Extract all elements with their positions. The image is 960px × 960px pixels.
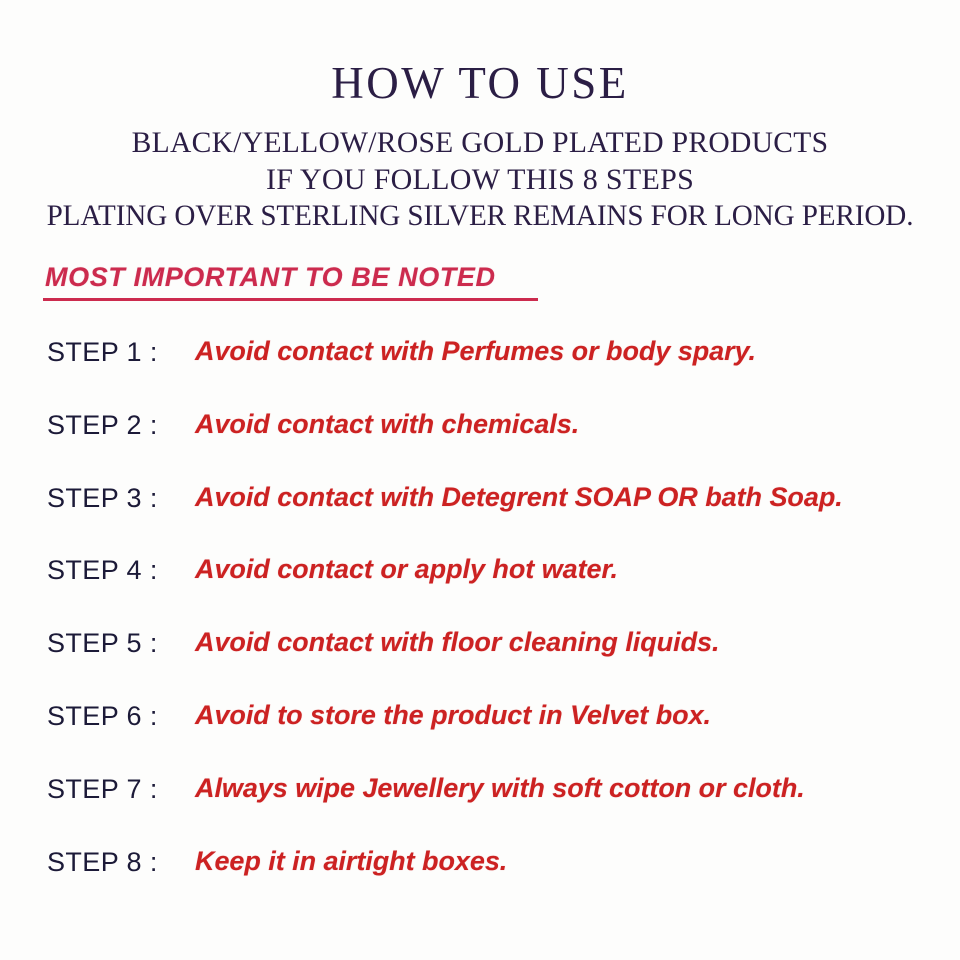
step-label: STEP 8 : (47, 847, 158, 878)
subtitle-line-3: PLATING OVER STERLING SILVER REMAINS FOR… (14, 198, 945, 235)
step-text: Avoid contact with Perfumes or body spar… (195, 336, 756, 367)
step-text: Avoid contact with chemicals. (195, 409, 579, 440)
step-text: Avoid contact with floor cleaning liquid… (195, 627, 719, 658)
step-row: STEP 7 : Always wipe Jewellery with soft… (0, 774, 960, 847)
subtitle-line-2: IF YOU FOLLOW THIS 8 STEPS (0, 162, 960, 199)
important-notice-underline (43, 298, 538, 301)
step-label: STEP 6 : (47, 701, 158, 732)
step-row: STEP 4 : Avoid contact or apply hot wate… (0, 555, 960, 628)
step-row: STEP 1 : Avoid contact with Perfumes or … (0, 337, 960, 410)
step-label: STEP 1 : (47, 337, 158, 368)
step-label: STEP 3 : (47, 483, 158, 514)
header-subtitle-block: BLACK/YELLOW/ROSE GOLD PLATED PRODUCTS I… (0, 125, 960, 235)
page-title: HOW TO USE (0, 60, 960, 107)
step-row: STEP 8 : Keep it in airtight boxes. (0, 847, 960, 920)
header-title-block: HOW TO USE (0, 60, 960, 107)
steps-list: STEP 1 : Avoid contact with Perfumes or … (0, 337, 960, 919)
step-row: STEP 5 : Avoid contact with floor cleani… (0, 628, 960, 701)
subtitle-line-1: BLACK/YELLOW/ROSE GOLD PLATED PRODUCTS (7, 125, 953, 162)
how-to-use-poster: HOW TO USE BLACK/YELLOW/ROSE GOLD PLATED… (0, 0, 960, 960)
important-notice-heading: MOST IMPORTANT TO BE NOTED (45, 262, 496, 293)
step-label: STEP 2 : (47, 410, 158, 441)
step-text: Avoid contact with Detegrent SOAP OR bat… (195, 482, 843, 513)
step-label: STEP 4 : (47, 555, 158, 586)
step-text: Keep it in airtight boxes. (195, 846, 507, 877)
step-row: STEP 2 : Avoid contact with chemicals. (0, 410, 960, 483)
step-row: STEP 3 : Avoid contact with Detegrent SO… (0, 483, 960, 556)
step-text: Avoid contact or apply hot water. (195, 554, 618, 585)
step-text: Always wipe Jewellery with soft cotton o… (195, 773, 805, 804)
step-label: STEP 5 : (47, 628, 158, 659)
step-text: Avoid to store the product in Velvet box… (195, 700, 711, 731)
step-row: STEP 6 : Avoid to store the product in V… (0, 701, 960, 774)
step-label: STEP 7 : (47, 774, 158, 805)
